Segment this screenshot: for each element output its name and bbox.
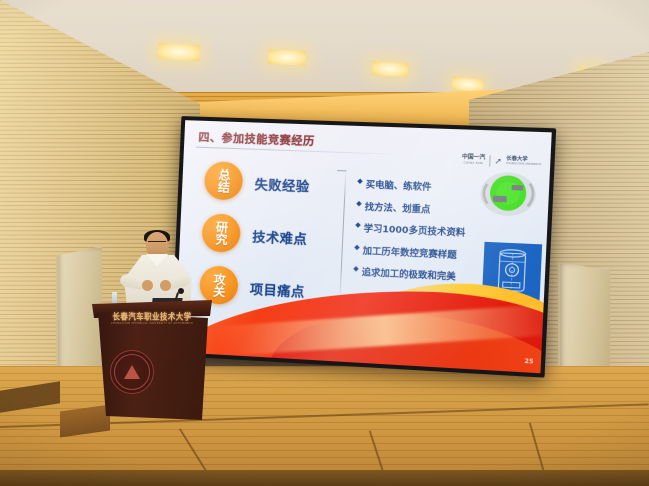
- ceiling-light-4: [451, 77, 484, 93]
- diamond-icon: ◆: [355, 221, 361, 231]
- water-bottle[interactable]: [112, 292, 117, 305]
- speaker-hand-right: [160, 280, 171, 291]
- diamond-icon: ◆: [354, 243, 360, 253]
- step-circle-2-text: 研究: [214, 221, 227, 246]
- ceiling-light-1: [158, 43, 201, 61]
- microphone-head-icon[interactable]: [178, 288, 184, 294]
- presentation-slide: 四、参加技能竞赛经历 中国一汽 CHINA FAW ➚ 长春大学 CHANGCH…: [175, 120, 552, 373]
- green-cad-part-photo: [475, 167, 544, 221]
- ceiling-light-3: [372, 61, 409, 77]
- podium-name-cn: 长春汽车职业技术大学: [113, 310, 192, 323]
- slide-title: 四、参加技能竞赛经历: [198, 129, 315, 149]
- step-label-2: 技术难点: [252, 226, 308, 248]
- diamond-icon: ◆: [357, 177, 363, 187]
- bullet-item-2-text: 找方法、划重点: [365, 199, 431, 215]
- led-screen[interactable]: 四、参加技能竞赛经历 中国一汽 CHINA FAW ➚ 长春大学 CHANGCH…: [171, 116, 557, 378]
- conference-hall-scene: 四、参加技能竞赛经历 中国一汽 CHINA FAW ➚ 长春大学 CHANGCH…: [0, 0, 649, 486]
- partner-logo-en: CHANGCHUN UNIVERSITY: [506, 163, 542, 167]
- bullet-item-1-text: 买电脑、练软件: [366, 177, 432, 193]
- diamond-icon: ◆: [356, 199, 362, 209]
- emblem-ring: [114, 354, 150, 390]
- faw-logo: 中国一汽 CHINA FAW: [462, 155, 486, 165]
- bullet-item-3-text: 学习1000多页技术资料: [363, 221, 465, 239]
- step-circle-1: 总结: [204, 161, 244, 201]
- slide-logos: 中国一汽 CHINA FAW ➚ 长春大学 CHANGCHUN UNIVERSI…: [462, 154, 542, 168]
- speaker-glasses: [148, 241, 166, 246]
- slide-page-number: 25: [524, 358, 533, 366]
- partner-logo: 长春大学 CHANGCHUN UNIVERSITY: [506, 157, 542, 167]
- stage-front-edge: [0, 470, 649, 486]
- divider-cap-top: [337, 170, 346, 171]
- bullet-item-3: ◆ 学习1000多页技术资料: [355, 221, 466, 239]
- bullet-item-2: ◆ 找方法、划重点: [356, 199, 467, 217]
- bullet-item-4: ◆ 加工历年数控竞赛样题: [354, 243, 465, 261]
- ceiling-light-2: [268, 49, 307, 66]
- bullet-item-1: ◆ 买电脑、练软件: [357, 177, 468, 195]
- screen-bezel: 四、参加技能竞赛经历 中国一汽 CHINA FAW ➚ 长春大学 CHANGCH…: [171, 116, 557, 378]
- step-circle-2: 研究: [201, 213, 241, 253]
- wing-logo-icon: ➚: [494, 157, 502, 166]
- faw-logo-en: CHINA FAW: [462, 161, 485, 165]
- bullet-item-4-text: 加工历年数控竞赛样题: [362, 243, 457, 261]
- step-label-1: 失败经验: [254, 174, 310, 195]
- university-emblem: [110, 350, 154, 394]
- slide-footer-swoosh: 25: [175, 266, 545, 373]
- logo-divider: [489, 155, 491, 166]
- speaker-hand-left: [142, 280, 153, 291]
- podium-name-en: CHANGCHUN TECHNICAL UNIVERSITY OF AUTOMO…: [99, 322, 205, 325]
- diamond-icon: ◆: [353, 264, 359, 274]
- step-circle-1-text: 总结: [217, 169, 230, 194]
